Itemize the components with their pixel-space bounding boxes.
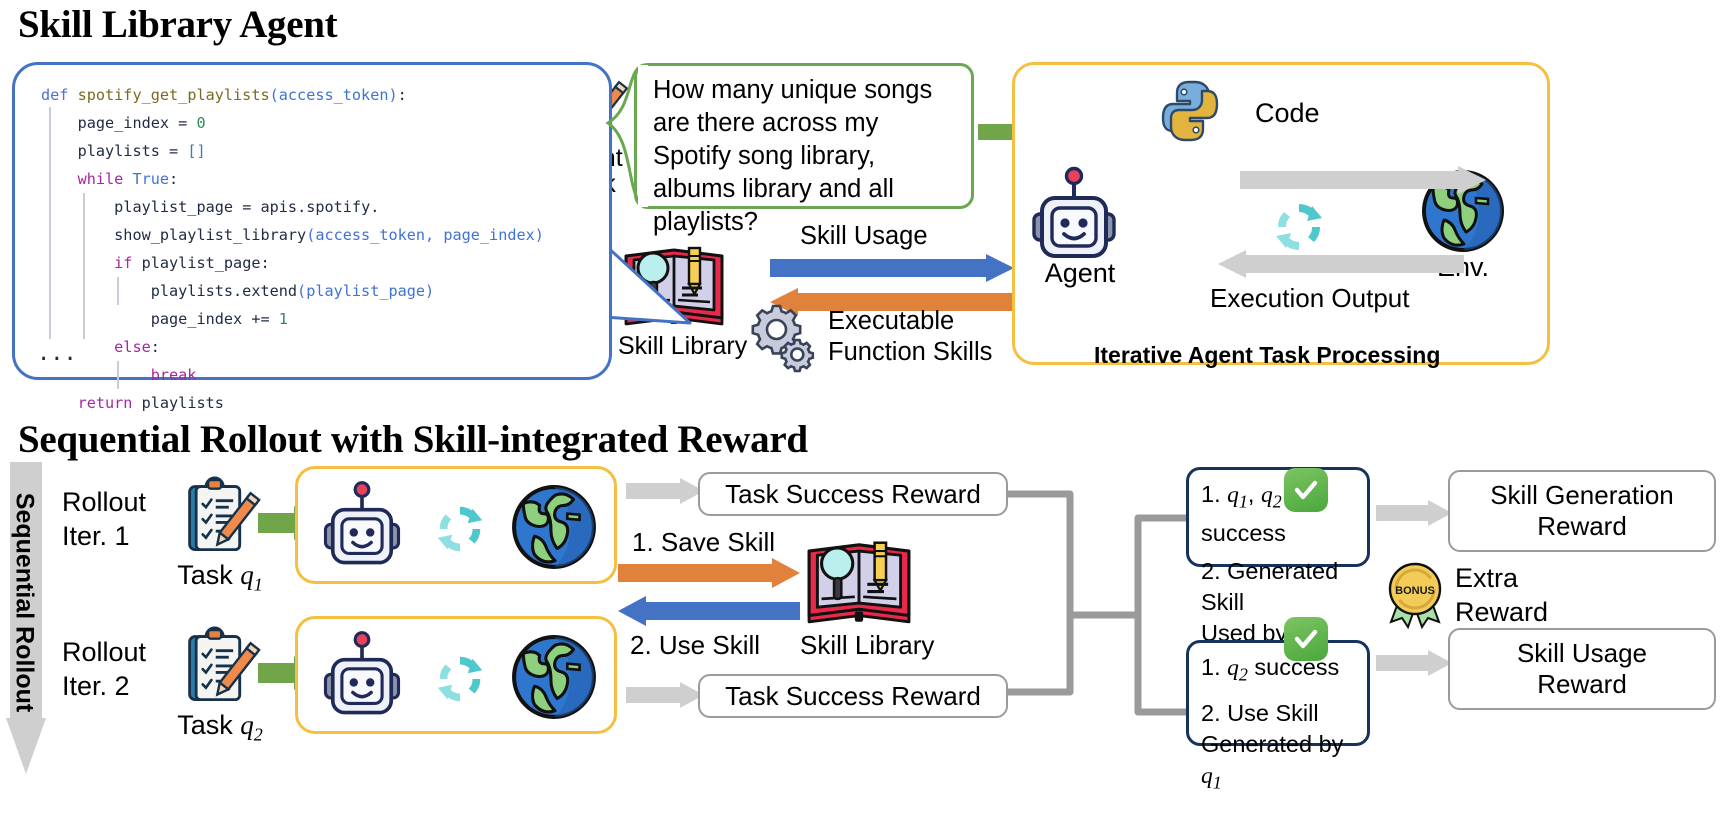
- save-skill-label: 1. Save Skill: [632, 527, 775, 558]
- cond2-gensub: 1: [1213, 772, 1222, 792]
- cond2-q2sub: 2: [1239, 665, 1248, 685]
- refresh-cycle-icon-row-2: [430, 651, 490, 707]
- page-title-top: Skill Library Agent: [18, 2, 337, 47]
- code-snippet-panel: def spotify_get_playlists(access_token):…: [12, 62, 612, 380]
- extra-reward-line2: Reward: [1455, 595, 1548, 629]
- condition-box-2: 1. q2 success 2. Use Skill Generated by …: [1186, 640, 1370, 746]
- gray-arrow-code-to-env: [1240, 166, 1486, 194]
- extra-reward-label: Extra Reward: [1455, 561, 1548, 629]
- orange-arrow-save-skill: [618, 558, 800, 588]
- condition-2-line3: Generated by q1: [1201, 729, 1355, 799]
- agent-label: Agent: [1034, 258, 1126, 289]
- code-label: Code: [1255, 98, 1320, 129]
- python-logo-icon: [1159, 80, 1221, 142]
- refresh-cycle-icon: [1268, 198, 1330, 256]
- task-label-1: Task q1: [160, 560, 280, 595]
- gray-arrow-to-reward-1: [626, 478, 704, 504]
- task-1-var: q: [240, 560, 254, 590]
- code-ellipsis: ...: [37, 341, 77, 366]
- sequential-rollout-label: Sequential Rollout: [10, 472, 39, 734]
- bonus-medal-icon: BONUS: [1383, 560, 1447, 626]
- condition-1-line2: 2. Generated Skill: [1201, 556, 1355, 618]
- cond1-comma: ,: [1248, 481, 1261, 507]
- skill-usage-reward-box: Skill Usage Reward: [1448, 628, 1716, 710]
- cond1-q2sub: 2: [1273, 492, 1282, 512]
- sequential-rollout-arrow: Sequential Rollout: [6, 462, 46, 774]
- executable-function-skills-label: Executable Function Skills: [828, 306, 1038, 368]
- green-check-icon-1: [1284, 468, 1328, 512]
- cond1-q2: q: [1261, 482, 1273, 508]
- globe-earth-icon-row-1: [510, 483, 598, 571]
- task-2-sub: 2: [254, 724, 263, 744]
- rollout-1-line1: Rollout: [62, 485, 146, 519]
- gray-arrow-skill-usage-reward: [1376, 650, 1452, 676]
- task-1-sub: 1: [254, 574, 263, 594]
- cond2-genvar: q: [1201, 763, 1213, 789]
- cond2-q2: q: [1227, 655, 1239, 681]
- page-title-bottom: Sequential Rollout with Skill-integrated…: [18, 417, 808, 462]
- gears-icon: [745, 300, 819, 366]
- exec-fn-line1: Executable: [828, 306, 1038, 337]
- condition-box-1: 1. q1, q2 success 2. Generated Skill Use…: [1186, 467, 1370, 567]
- task-1-word: Task: [177, 560, 233, 590]
- skill-usage-line1: Skill Usage: [1517, 638, 1647, 669]
- agent-task-bubble: How many unique songs are there across m…: [634, 63, 974, 209]
- refresh-cycle-icon-row-1: [430, 501, 490, 557]
- robot-agent-icon-row-2: [320, 629, 404, 725]
- skill-gen-line1: Skill Generation: [1490, 480, 1674, 511]
- env-panel-row-2: [295, 616, 617, 734]
- blue-arrow-skill-usage: [770, 254, 1014, 282]
- clipboard-pencil-icon-task-1: [182, 477, 256, 557]
- green-check-icon-2: [1284, 617, 1328, 661]
- skill-generation-reward-box: Skill Generation Reward: [1448, 470, 1716, 552]
- gray-arrow-env-to-agent: [1218, 250, 1464, 278]
- task-success-reward-box-2: Task Success Reward: [698, 674, 1008, 718]
- agent-task-question: How many unique songs are there across m…: [653, 74, 963, 239]
- cond1-success: success: [1201, 520, 1286, 546]
- skill-gen-line2: Reward: [1537, 511, 1627, 542]
- blue-arrow-use-skill: [618, 596, 800, 626]
- task-label-2: Task q2: [160, 710, 280, 745]
- condition-1-line1: 1. q1, q2 success: [1201, 479, 1355, 549]
- condition-2-line1: 1. q2 success: [1201, 652, 1355, 691]
- task-2-word: Task: [177, 710, 233, 740]
- skill-library-label-top: Skill Library: [618, 332, 730, 361]
- use-skill-label: 2. Use Skill: [630, 630, 760, 661]
- condition-2-line2: 2. Use Skill: [1201, 698, 1355, 729]
- globe-earth-icon-row-2: [510, 633, 598, 721]
- extra-reward-line1: Extra: [1455, 561, 1548, 595]
- diagram-canvas: Skill Library Agent def spotify_get_play…: [0, 0, 1730, 826]
- iterative-panel-caption: Iterative Agent Task Processing: [1094, 342, 1440, 369]
- cond1-q1: q: [1227, 482, 1239, 508]
- speech-bubble-tail: [604, 63, 648, 211]
- env-panel-row-1: [295, 466, 617, 584]
- rollout-label-2: Rollout Iter. 2: [62, 635, 146, 703]
- rollout-2-line2: Iter. 2: [62, 669, 146, 703]
- cond1-q1sub: 1: [1239, 492, 1248, 512]
- open-book-magnifier-pencil-icon-bottom: [800, 524, 918, 628]
- clipboard-pencil-icon-task-2: [182, 627, 256, 707]
- bonus-badge-text: BONUS: [1395, 585, 1435, 597]
- task-2-var: q: [240, 710, 254, 740]
- robot-agent-icon-row-1: [320, 479, 404, 575]
- robot-agent-icon: [1028, 168, 1120, 266]
- skill-library-group-bottom: Skill Library: [800, 524, 930, 661]
- gray-arrow-to-reward-2: [626, 682, 704, 708]
- cond1-num: 1.: [1201, 481, 1227, 507]
- skill-library-label-bottom: Skill Library: [800, 630, 930, 661]
- code-text: def spotify_get_playlists(access_token):…: [41, 81, 544, 417]
- exec-fn-line2: Function Skills: [828, 337, 1038, 368]
- rollout-label-1: Rollout Iter. 1: [62, 485, 146, 553]
- skill-usage-line2: Reward: [1537, 669, 1627, 700]
- rollout-2-line1: Rollout: [62, 635, 146, 669]
- gray-arrow-skill-generation: [1376, 500, 1452, 526]
- execution-output-label: Execution Output: [1210, 283, 1409, 314]
- task-success-reward-box-1: Task Success Reward: [698, 472, 1008, 516]
- rollout-1-line2: Iter. 1: [62, 519, 146, 553]
- cond2-num: 1.: [1201, 654, 1227, 680]
- cond2-genby: Generated by: [1201, 731, 1343, 757]
